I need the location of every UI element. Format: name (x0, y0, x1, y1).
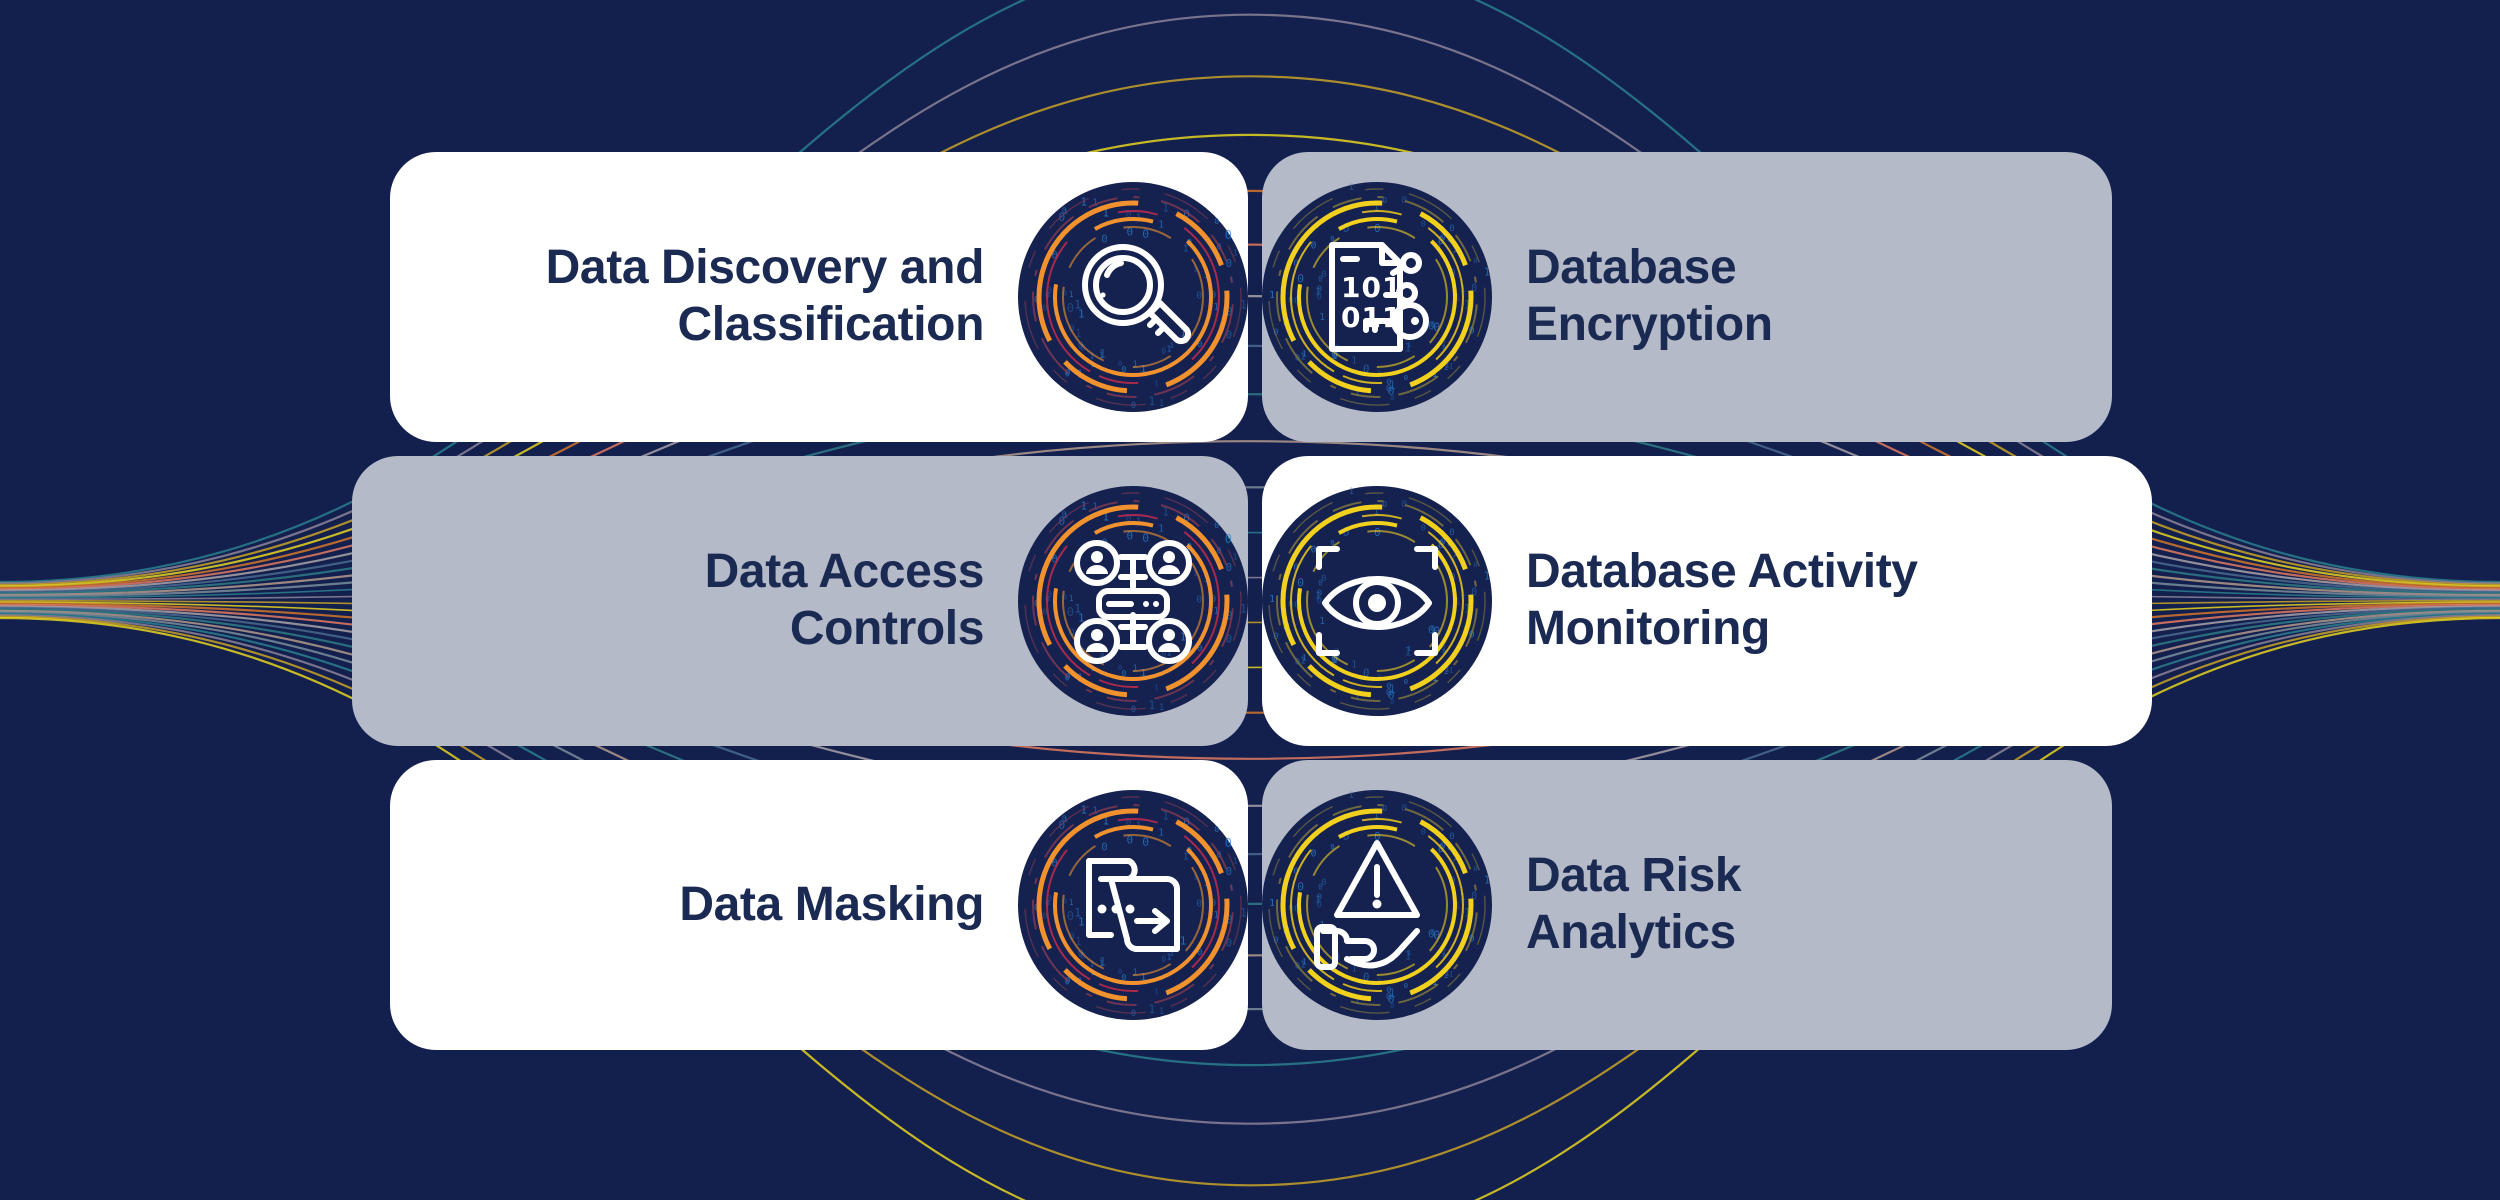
svg-text:1: 1 (1158, 828, 1164, 839)
card-database-activity-monitoring[interactable]: 0110100000000001011111010010000001011100… (1262, 456, 2152, 746)
svg-text:0: 0 (1374, 526, 1381, 539)
svg-text:1: 1 (1069, 593, 1074, 603)
card-title: Database Activity Monitoring (1492, 544, 2152, 657)
svg-text:1: 1 (1349, 183, 1354, 193)
svg-text:1: 1 (1074, 906, 1081, 919)
svg-text:0: 0 (1317, 285, 1322, 294)
svg-text:1: 1 (1069, 289, 1074, 299)
card-title: Data Access Controls (352, 544, 1018, 657)
svg-text:0: 0 (1196, 899, 1202, 910)
svg-text:1: 1 (1319, 312, 1325, 323)
svg-text:1: 1 (1407, 948, 1411, 957)
svg-text:0: 0 (1404, 373, 1408, 382)
infographic-canvas: Data Discovery and Classification1001110… (0, 0, 2500, 1200)
svg-text:0: 0 (1225, 228, 1232, 242)
svg-text:1: 1 (1154, 986, 1158, 995)
svg-text:0: 0 (1374, 222, 1381, 235)
svg-text:1: 1 (1132, 967, 1138, 978)
svg-text:0: 0 (1101, 840, 1107, 853)
svg-text:1: 1 (1074, 602, 1081, 615)
svg-text:0: 0 (1214, 216, 1219, 226)
svg-text:1: 1 (1484, 874, 1490, 887)
svg-text:0: 0 (1225, 836, 1232, 850)
svg-text:1: 1 (1132, 663, 1138, 674)
svg-text:1: 1 (1159, 703, 1164, 713)
svg-text:1: 1 (1484, 266, 1490, 279)
svg-text:1: 1 (1319, 616, 1325, 627)
svg-text:1: 1 (1349, 791, 1354, 801)
svg-text:1: 1 (1349, 487, 1354, 497)
card-title: Data Masking (390, 877, 1018, 934)
svg-text:1: 1 (1351, 660, 1357, 671)
svg-text:0: 0 (1404, 677, 1408, 686)
svg-text:0: 0 (1318, 883, 1323, 892)
svg-text:0: 0 (1421, 219, 1426, 229)
svg-text:0: 0 (1318, 579, 1323, 588)
svg-text:0: 0 (1214, 520, 1219, 530)
svg-text:1: 1 (1407, 340, 1411, 349)
svg-text:0: 0 (1421, 523, 1426, 533)
svg-text:1: 1 (1148, 1002, 1155, 1016)
svg-text:1: 1 (1269, 290, 1275, 301)
card-data-access-controls[interactable]: Data Access Controls10011100110110100110… (352, 456, 1248, 746)
svg-text:0: 0 (1118, 359, 1122, 368)
svg-text:0: 0 (1196, 595, 1202, 606)
svg-text:0: 0 (1131, 1009, 1136, 1019)
svg-text:0: 0 (1317, 893, 1322, 902)
svg-text:0: 0 (1214, 824, 1219, 834)
svg-text:1: 1 (1158, 524, 1164, 535)
card-title: Data Risk Analytics (1492, 848, 2112, 961)
svg-text:1: 1 (1180, 935, 1186, 947)
svg-text:0: 0 (1421, 827, 1426, 837)
svg-text:1: 1 (1269, 594, 1275, 605)
svg-text:1: 1 (1389, 378, 1396, 392)
svg-text:1: 1 (1069, 897, 1074, 907)
svg-text:0: 0 (1067, 301, 1074, 315)
svg-text:0: 0 (1067, 605, 1074, 619)
svg-text:1: 1 (1158, 220, 1164, 231)
svg-text:1: 1 (1132, 359, 1138, 370)
hand-warning-icon: 0110100000000001011111010010000001011100… (1262, 790, 1492, 1020)
svg-text:0: 0 (1404, 981, 1408, 990)
svg-text:0: 0 (1162, 347, 1167, 356)
svg-text:1: 1 (1269, 898, 1275, 909)
svg-text:0: 0 (1225, 532, 1232, 546)
svg-text:1: 1 (1154, 378, 1158, 387)
card-title: Data Discovery and Classification (390, 240, 1018, 353)
svg-text:1: 1 (1148, 394, 1155, 408)
svg-text:1: 1 (1154, 682, 1158, 691)
svg-text:0: 0 (1118, 663, 1122, 672)
svg-text:1: 1 (1148, 698, 1155, 712)
svg-text:1: 1 (1351, 356, 1357, 367)
svg-text:1: 1 (1159, 1007, 1164, 1017)
svg-text:0: 0 (1449, 224, 1454, 234)
svg-text:0: 0 (1318, 275, 1323, 284)
users-network-icon: 1001110011011010011000011000011001010100… (1018, 486, 1248, 716)
document-transfer-icon: 1001110011011010011000011000011001010100… (1018, 790, 1248, 1020)
svg-text:0: 0 (1449, 832, 1454, 842)
card-grid: Data Discovery and Classification1001110… (0, 0, 2500, 1200)
card-title: Database Encryption (1492, 240, 2112, 353)
magnifier-icon: 1001110011011010011000011000011001010100… (1018, 182, 1248, 412)
svg-text:0: 0 (1131, 401, 1136, 411)
svg-text:0: 0 (1297, 880, 1304, 894)
svg-text:0: 0 (1118, 967, 1122, 976)
svg-text:0: 0 (1317, 589, 1322, 598)
eye-scan-icon: 0110100000000001011111010010000001011100… (1262, 486, 1492, 716)
svg-text:1: 1 (1170, 341, 1174, 350)
svg-text:1: 1 (1484, 570, 1490, 583)
svg-text:0: 0 (1449, 528, 1454, 538)
svg-text:0: 0 (1162, 955, 1167, 964)
card-database-encryption[interactable]: 0110100000000001011111010010000001011100… (1262, 152, 2112, 442)
svg-text:0: 0 (1297, 272, 1304, 286)
svg-text:0: 0 (1297, 576, 1304, 590)
svg-text:1: 1 (1074, 298, 1081, 311)
svg-text:1: 1 (1407, 644, 1411, 653)
svg-text:0: 0 (1067, 909, 1074, 923)
encrypted-document-key-icon: 0110100000000001011111010010000001011100… (1262, 182, 1492, 412)
svg-text:1: 1 (1159, 399, 1164, 409)
svg-text:0: 0 (1196, 291, 1202, 302)
svg-text:0: 0 (1101, 232, 1107, 245)
svg-text:1: 1 (1389, 986, 1396, 1000)
svg-text:1: 1 (1389, 682, 1396, 696)
svg-text:0: 0 (1131, 705, 1136, 715)
card-data-risk-analytics[interactable]: 0110100000000001011111010010000001011100… (1262, 760, 2112, 1050)
card-data-masking[interactable]: Data Masking1001110011011010011000011000… (390, 760, 1248, 1050)
card-data-discovery-and-classification[interactable]: Data Discovery and Classification1001110… (390, 152, 1248, 442)
